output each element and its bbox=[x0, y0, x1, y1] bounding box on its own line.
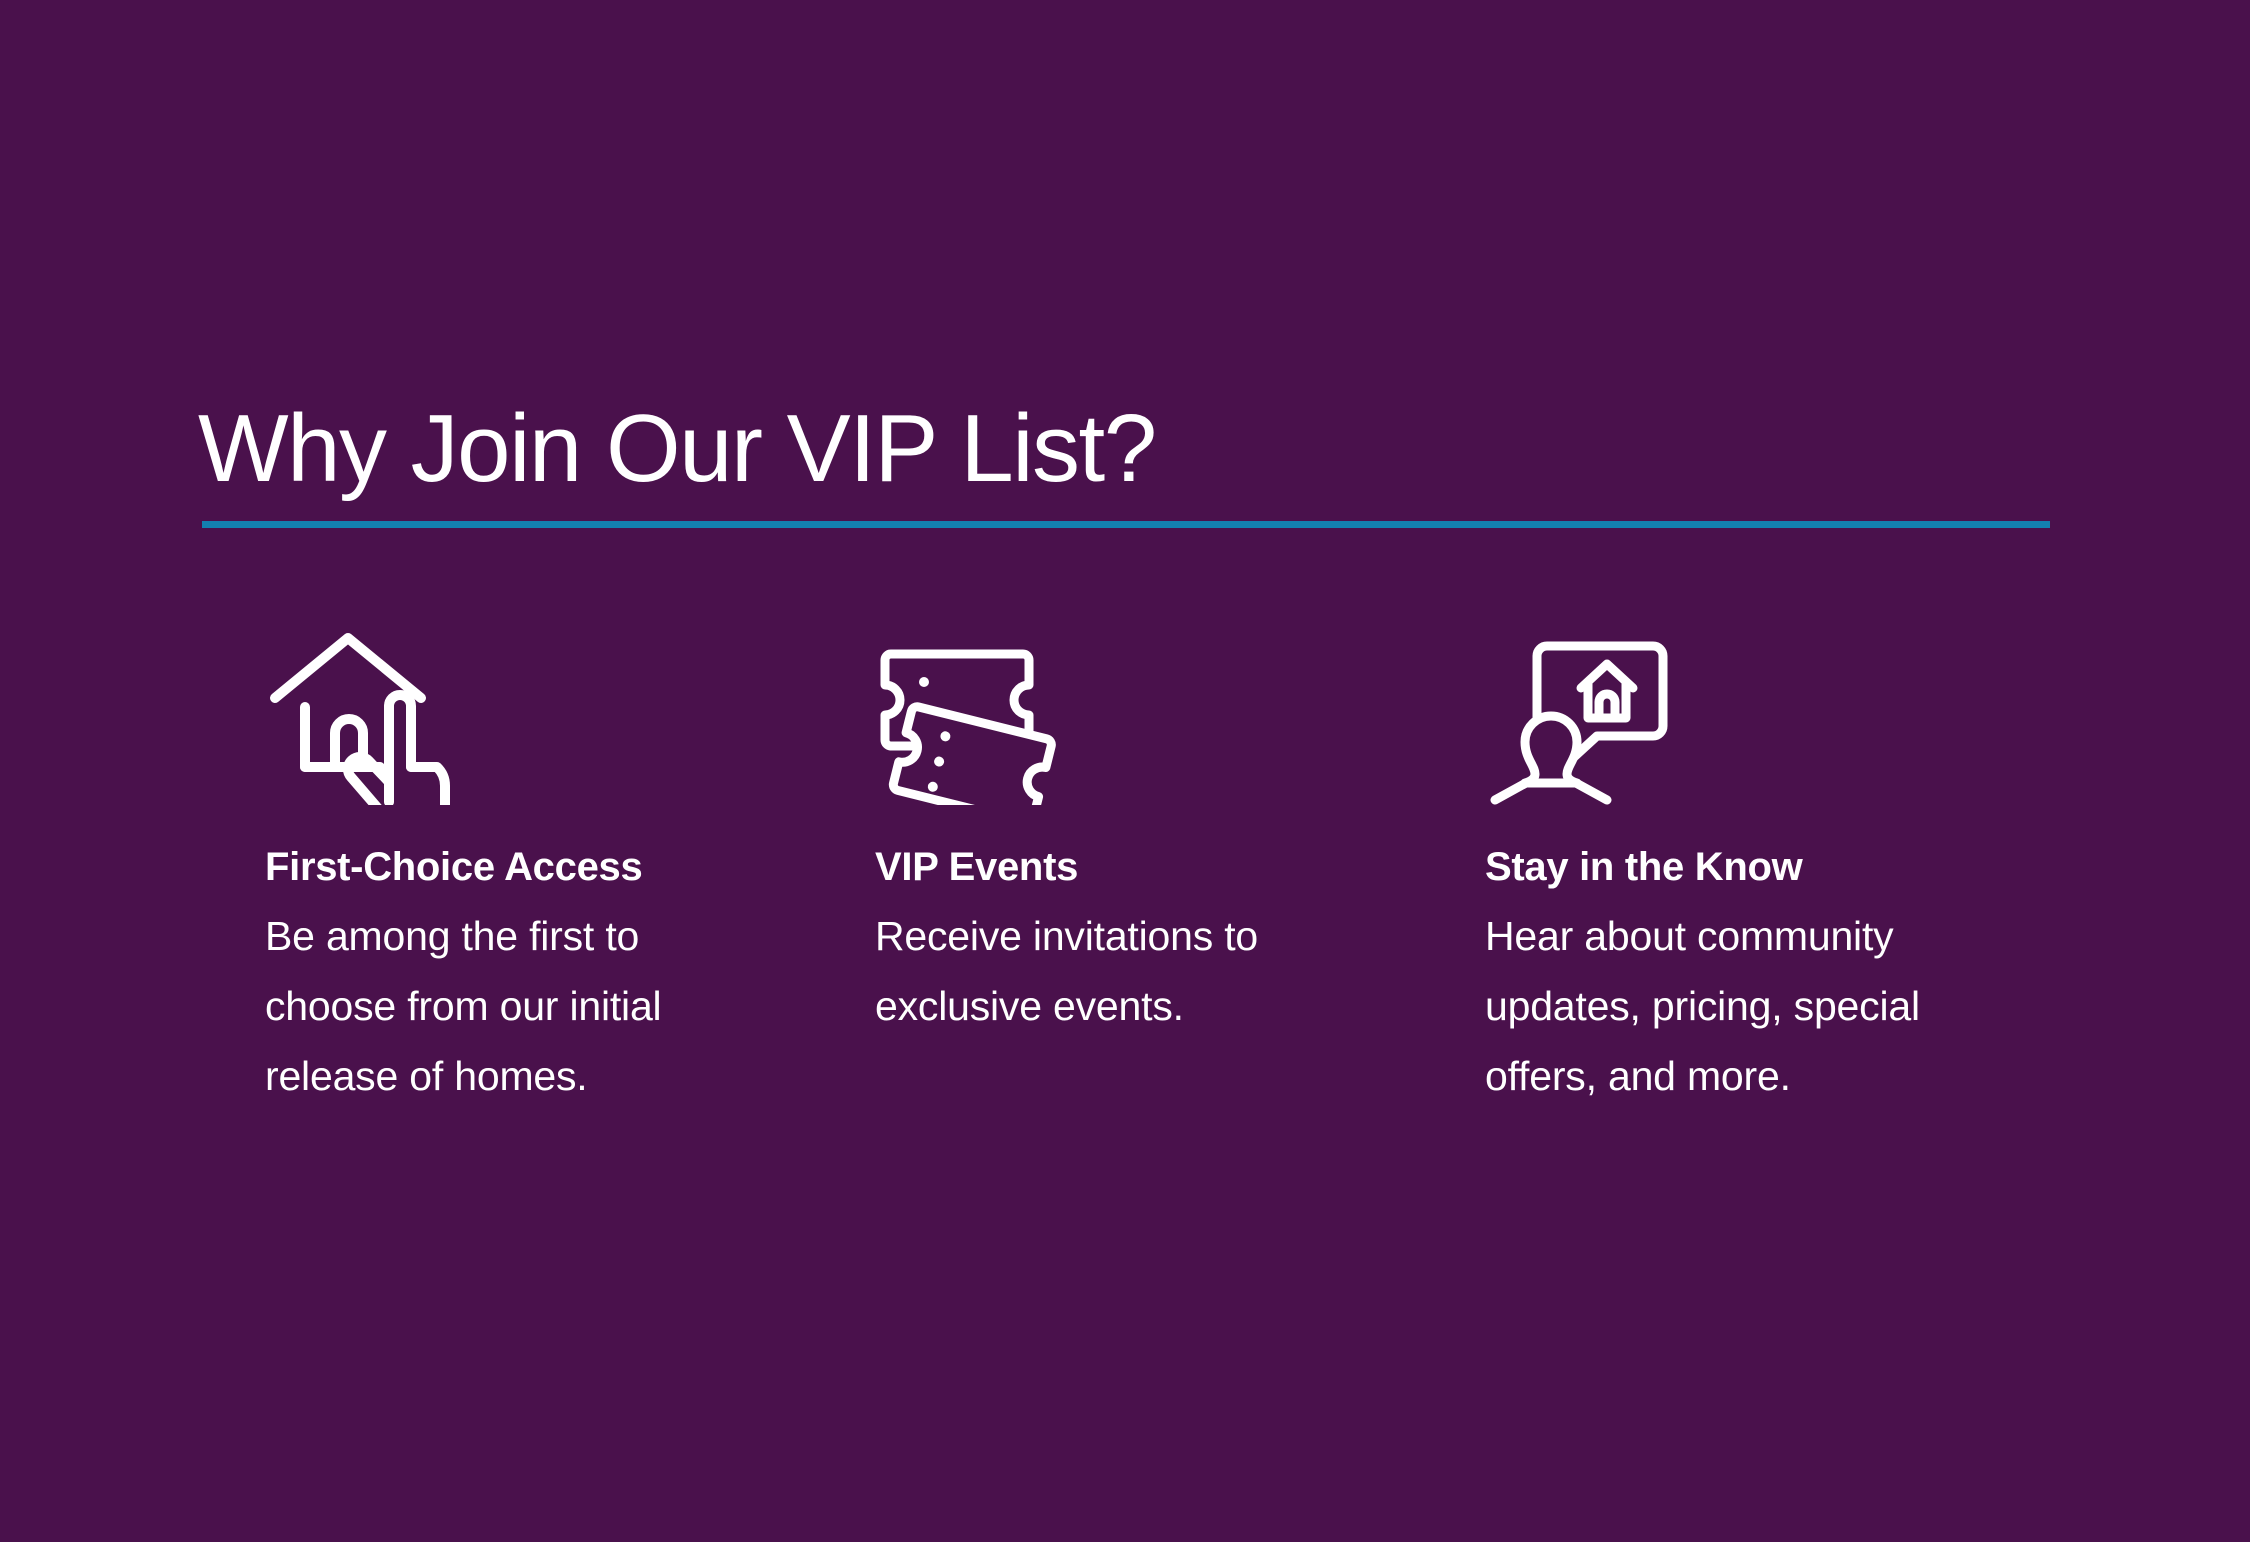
benefits-columns: First-Choice Access Be among the first t… bbox=[265, 630, 2065, 1111]
event-tickets-icon bbox=[875, 630, 1435, 805]
benefit-card-stay-in-the-know: Stay in the Know Hear about community up… bbox=[1485, 630, 2045, 1111]
benefit-title: VIP Events bbox=[875, 843, 1435, 891]
title-divider bbox=[202, 521, 2050, 528]
person-speech-bubble-house-icon bbox=[1485, 630, 2045, 805]
vip-list-benefits-slide: Why Join Our VIP List? bbox=[0, 0, 2250, 1542]
benefit-body: Be among the first to choose from our in… bbox=[265, 901, 765, 1111]
benefit-body: Receive invitations to exclusive events. bbox=[875, 901, 1375, 1041]
benefit-title: Stay in the Know bbox=[1485, 843, 2045, 891]
benefit-body: Hear about community updates, pricing, s… bbox=[1485, 901, 2025, 1111]
benefit-card-vip-events: VIP Events Receive invitations to exclus… bbox=[875, 630, 1435, 1041]
benefit-title: First-Choice Access bbox=[265, 843, 825, 891]
benefit-card-first-choice-access: First-Choice Access Be among the first t… bbox=[265, 630, 825, 1111]
page-title: Why Join Our VIP List? bbox=[198, 394, 1156, 504]
house-select-hand-icon bbox=[265, 630, 825, 805]
